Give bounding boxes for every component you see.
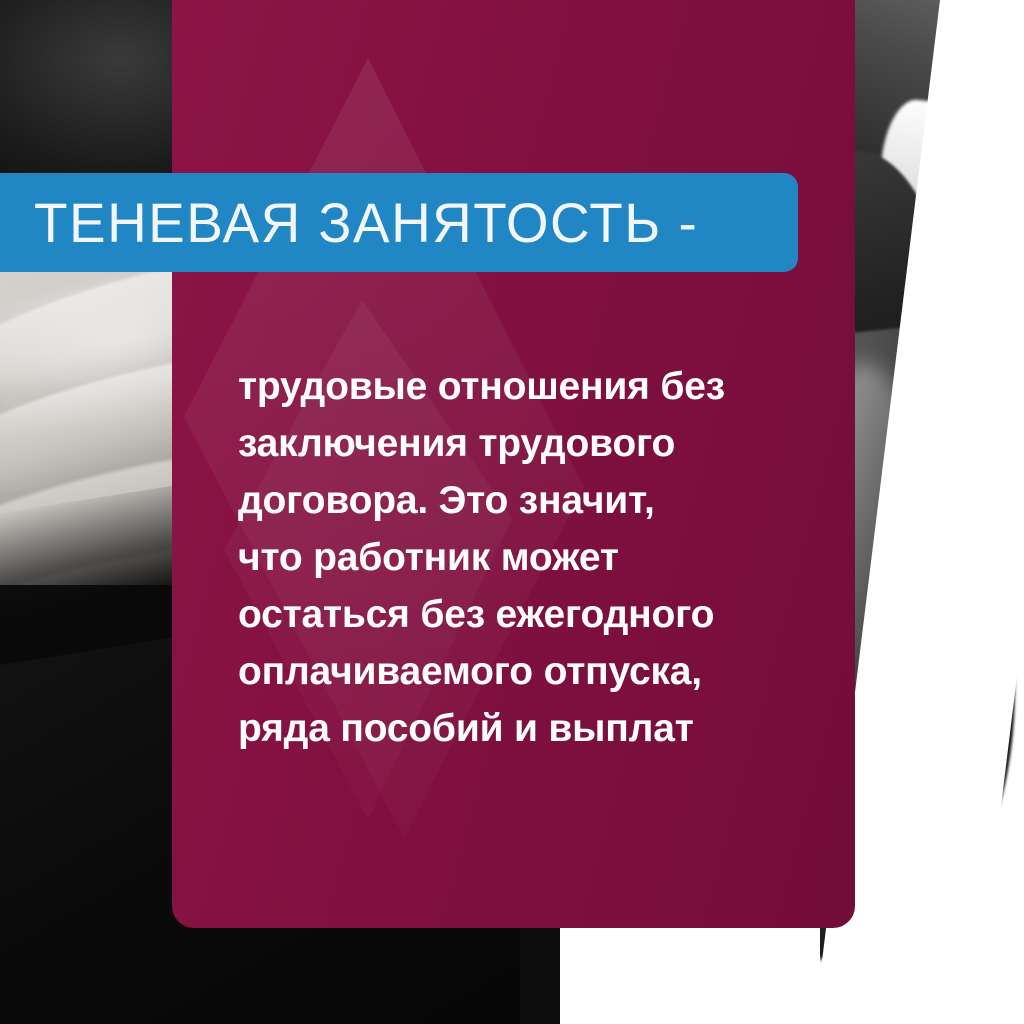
body-line: что работник может bbox=[238, 529, 818, 586]
body-line: остаться без ежегодного bbox=[238, 586, 818, 643]
headline-bar: ТЕНЕВАЯ ЗАНЯТОСТЬ - bbox=[0, 173, 798, 272]
body-copy: трудовые отношения без заключения трудов… bbox=[238, 358, 818, 757]
body-line: заключения трудового bbox=[238, 415, 818, 472]
poster-canvas: ТЕНЕВАЯ ЗАНЯТОСТЬ - трудовые отношения б… bbox=[0, 0, 1024, 1024]
body-line: договора. Это значит, bbox=[238, 472, 818, 529]
page-title: ТЕНЕВАЯ ЗАНЯТОСТЬ - bbox=[34, 195, 698, 251]
body-line: оплачиваемого отпуска, bbox=[238, 643, 818, 700]
body-line: трудовые отношения без bbox=[238, 358, 818, 415]
body-line: ряда пособий и выплат bbox=[238, 700, 818, 757]
